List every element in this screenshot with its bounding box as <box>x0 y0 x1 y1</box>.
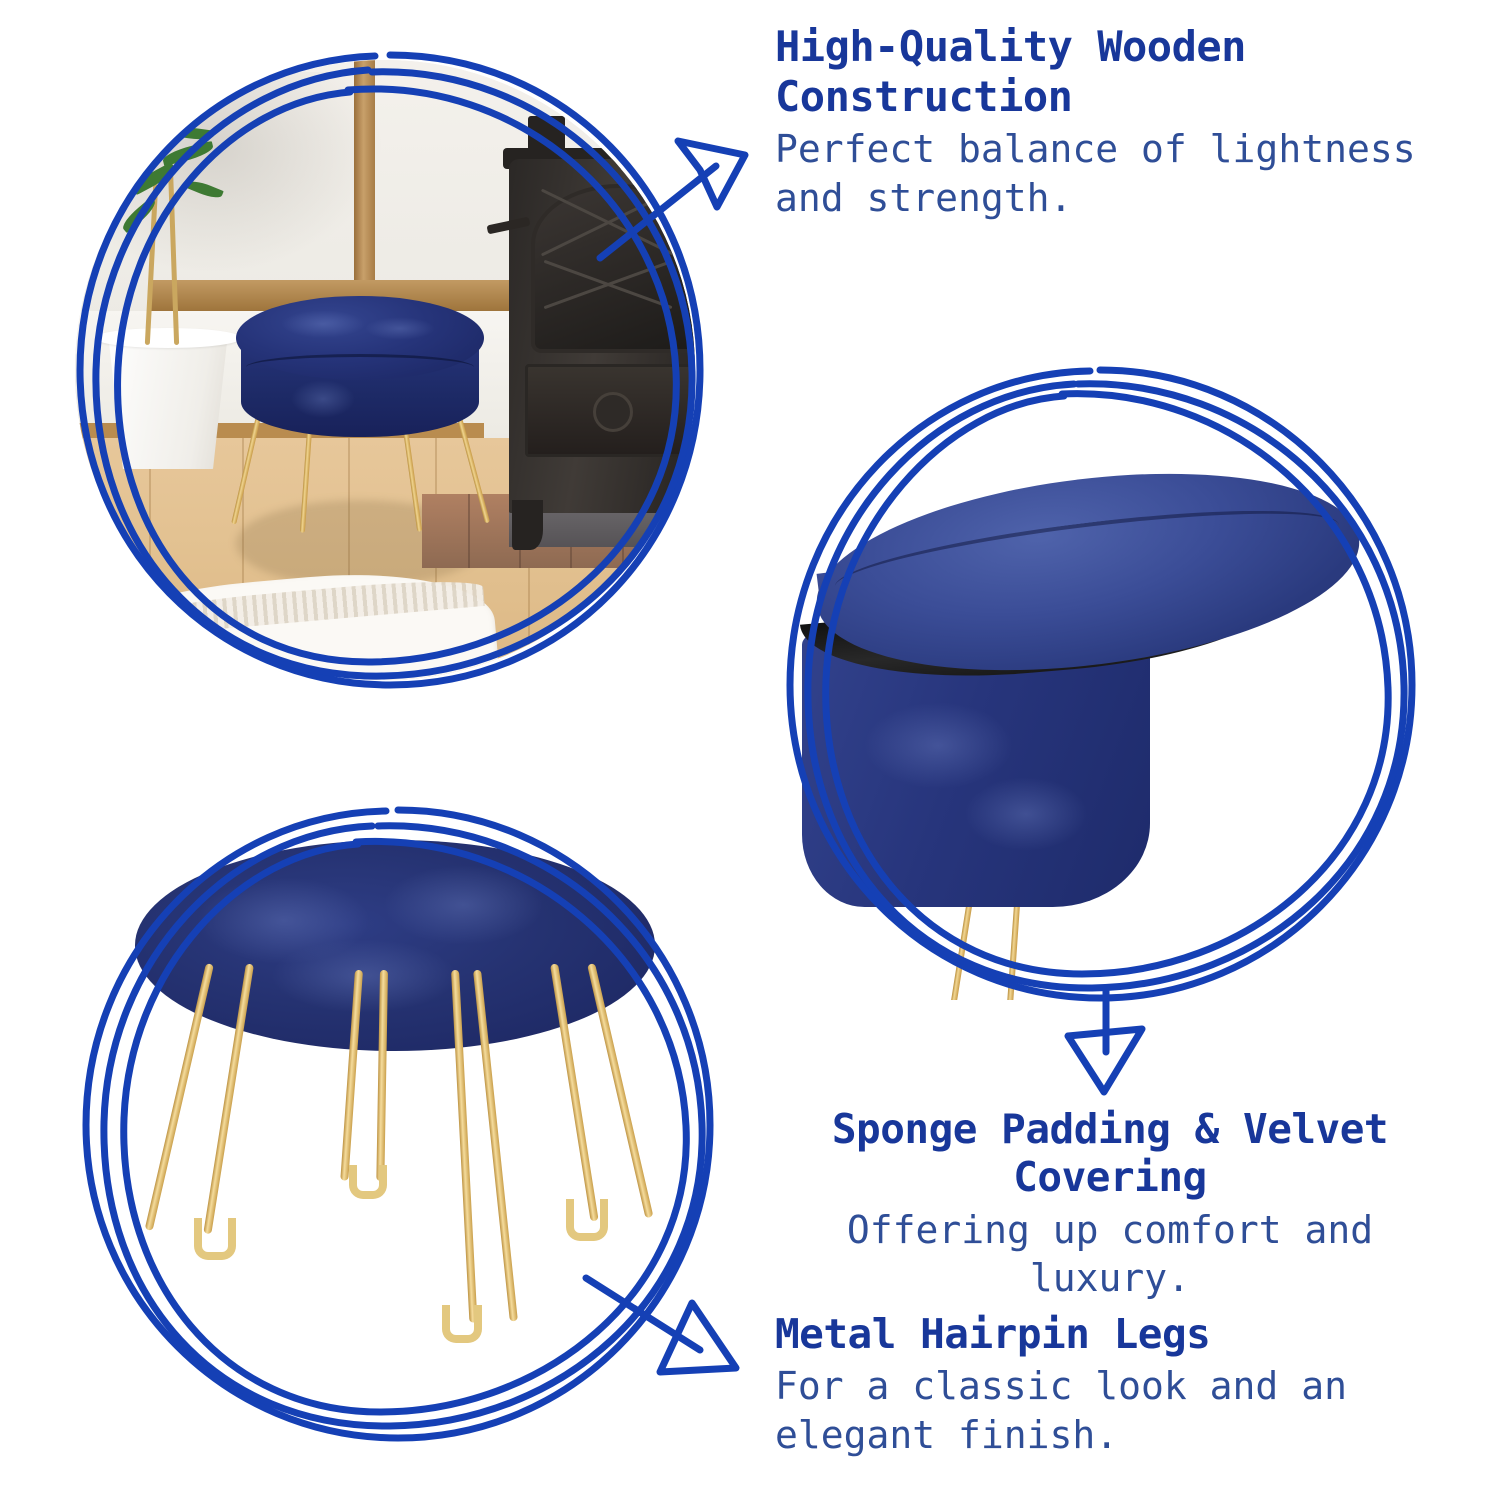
lid-lifted-image <box>790 380 1410 1000</box>
stove-glass-door <box>531 184 695 353</box>
velvet-stool <box>236 296 484 532</box>
legs-detail-photo <box>85 815 705 1435</box>
feature-body: Offering up comfort and luxury. <box>760 1206 1460 1303</box>
stool-seam <box>246 354 474 381</box>
infographic-canvas: High-Quality Wooden Construction Perfect… <box>0 0 1500 1500</box>
feature-title: High-Quality Wooden Construction <box>775 22 1435 121</box>
room-scene-photo <box>75 60 695 680</box>
panel-room-scene <box>75 60 695 680</box>
feature-wooden-construction: High-Quality Wooden Construction Perfect… <box>775 22 1435 222</box>
stool-underside-image <box>85 815 705 1435</box>
vertical-beam <box>354 60 375 308</box>
stove-knob <box>593 392 633 432</box>
panel-lid-detail <box>790 380 1410 1000</box>
room-interior-image <box>75 60 695 680</box>
panel-legs-detail <box>85 815 705 1435</box>
feature-title: Sponge Padding & Velvet Covering <box>760 1105 1460 1202</box>
lid-detail-photo <box>790 380 1410 1000</box>
feature-hairpin-legs: Metal Hairpin Legs For a classic look an… <box>775 1310 1425 1460</box>
feature-sponge-padding: Sponge Padding & Velvet Covering Offerin… <box>760 1105 1460 1303</box>
feature-body: Perfect balance of lightness and strengt… <box>775 125 1435 222</box>
feature-body: For a classic look and an elegant finish… <box>775 1362 1425 1459</box>
feature-title: Metal Hairpin Legs <box>775 1310 1425 1358</box>
